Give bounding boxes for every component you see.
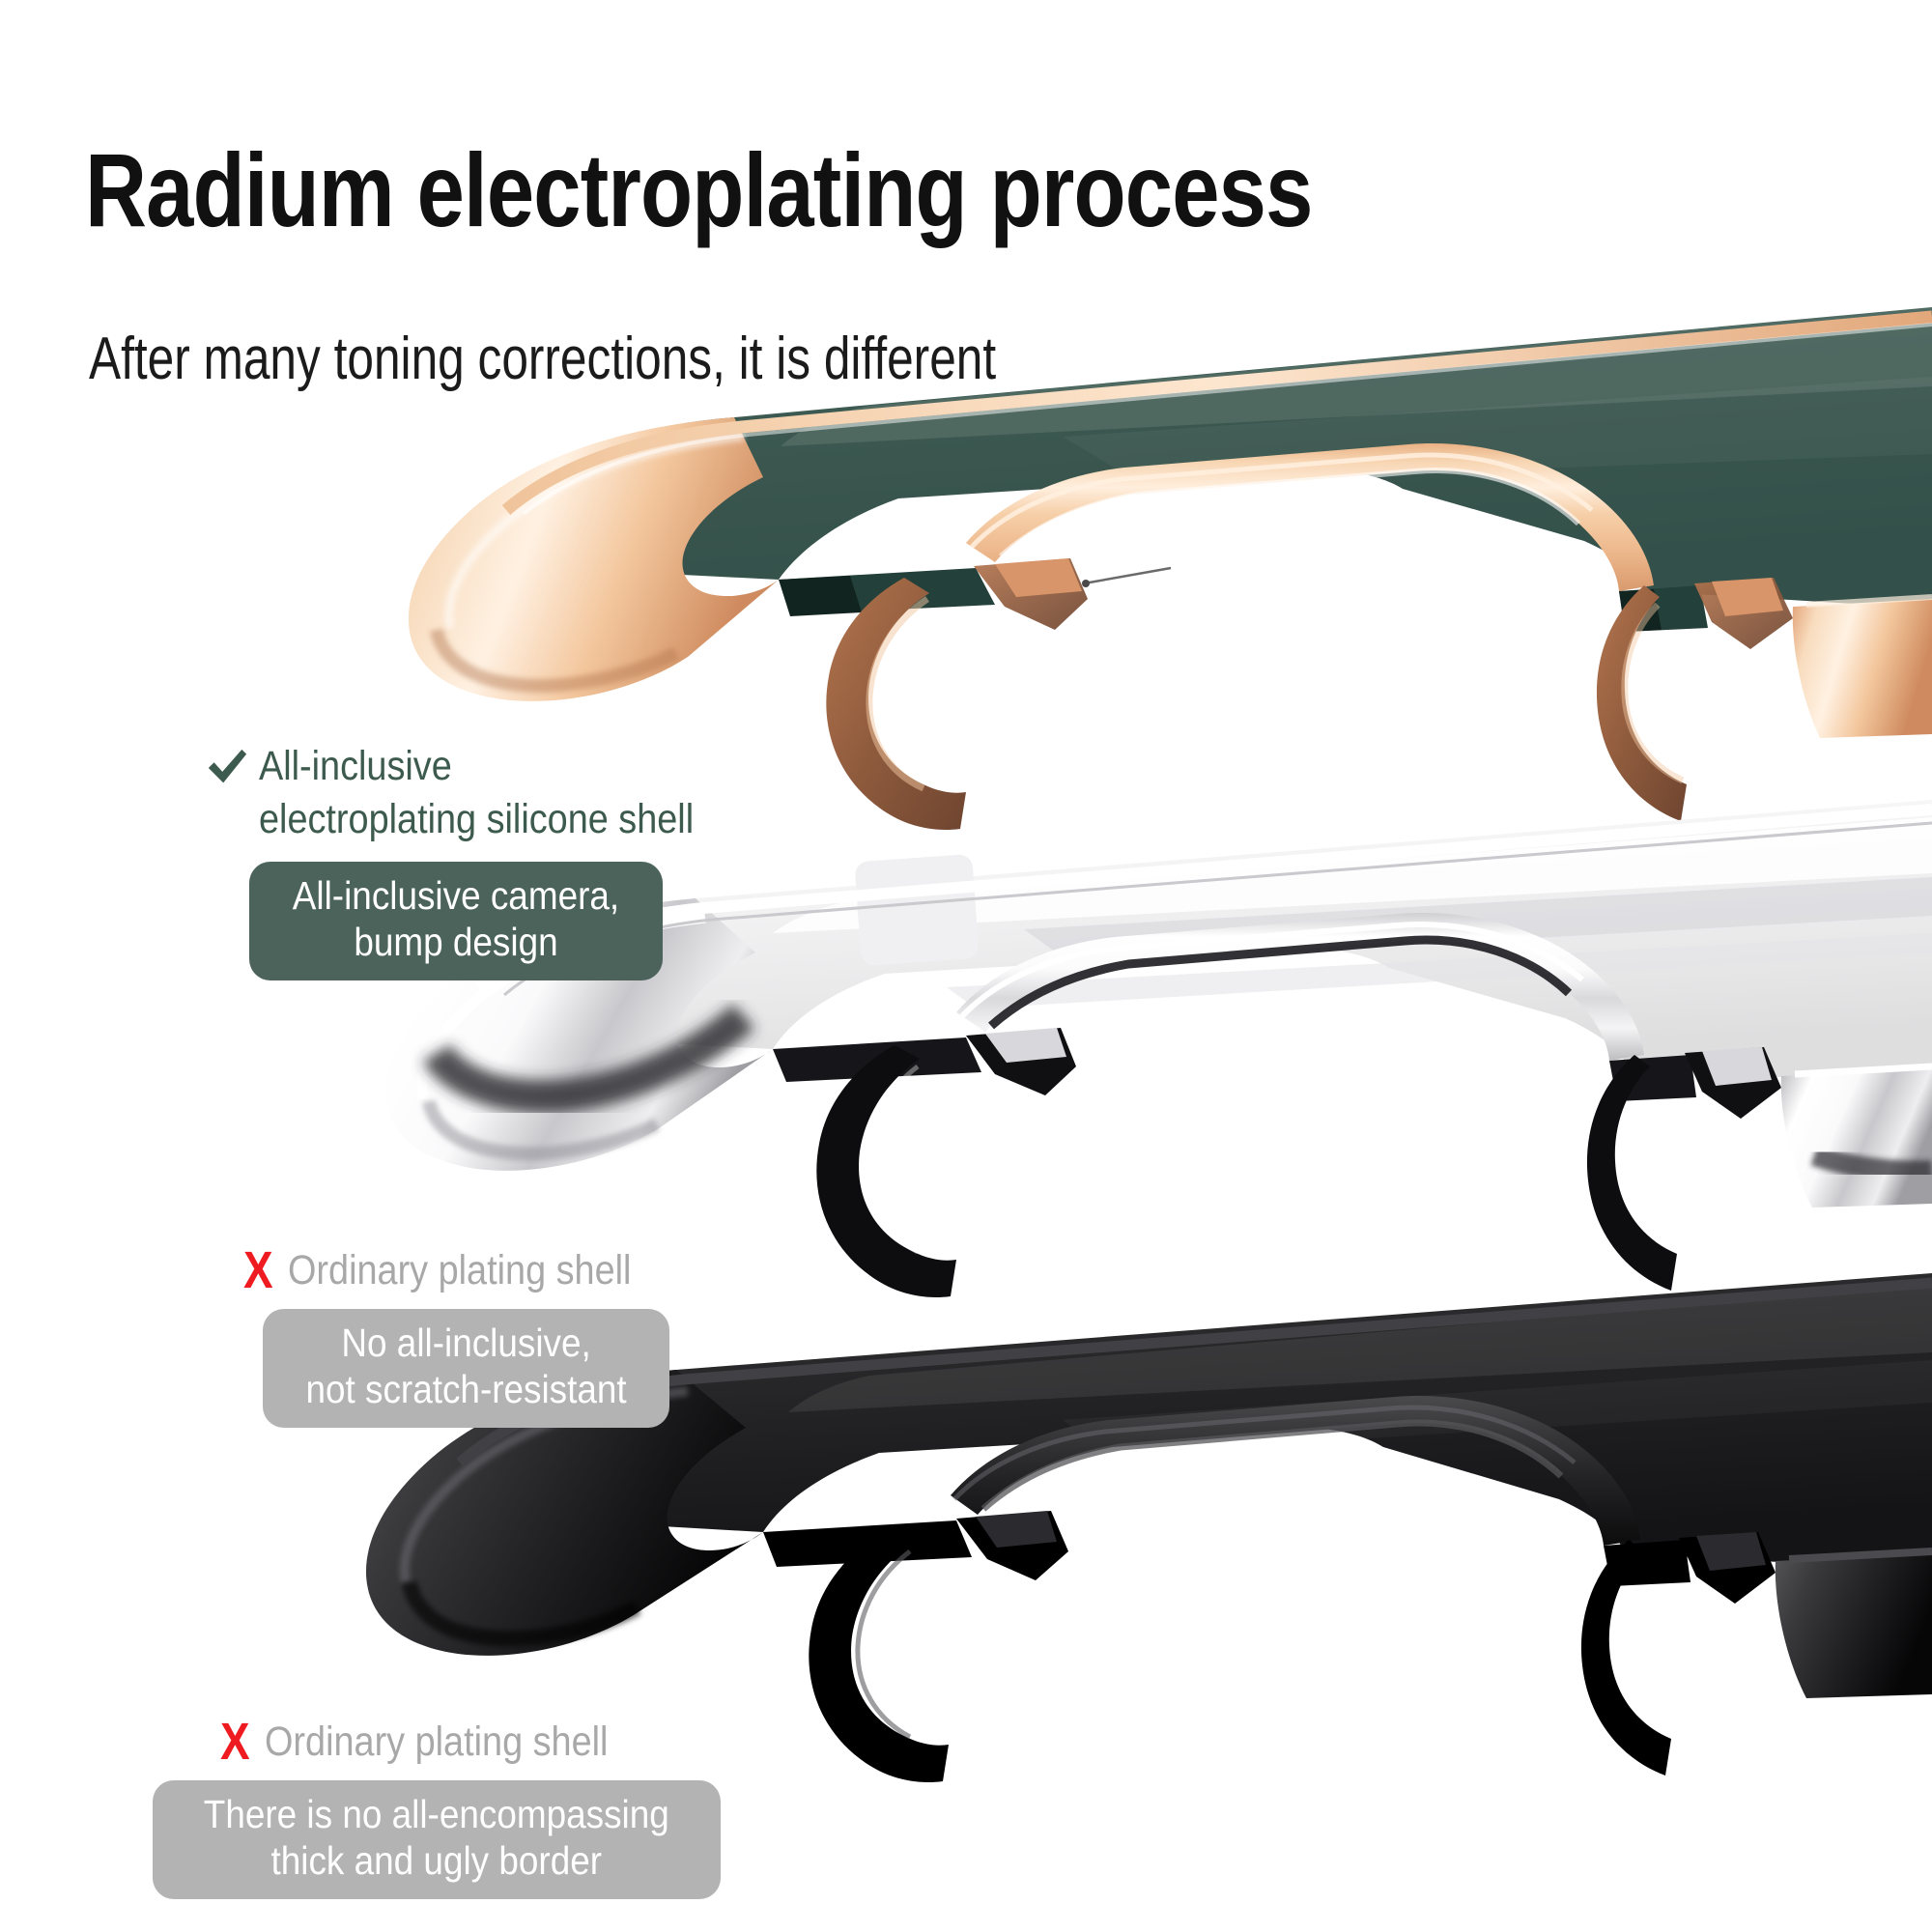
annotation-clear-case: X Ordinary plating shell No all-inclusiv… [243,1244,678,1428]
badge-line2: thick and ugly border [204,1838,669,1885]
x-icon: X [220,1716,250,1768]
badge-line1: There is no all-encompassing [204,1792,669,1838]
feature-badge: There is no all-encompassing thick and u… [153,1780,721,1899]
page-subtitle: After many toning corrections, it is dif… [89,327,996,392]
annotation-label-line1: Ordinary plating shell [288,1247,631,1293]
badge-wrapper: No all-inclusive, not scratch-resistant [263,1309,678,1428]
annotation-label: Ordinary plating shell [265,1716,608,1769]
check-icon [205,746,249,790]
feature-badge: All-inclusive camera, bump design [249,862,663,980]
annotation-label-line2: electroplating silicone shell [259,793,694,846]
annotation-label: All-inclusive electroplating silicone sh… [259,740,694,846]
annotation-green-case: All-inclusive electroplating silicone sh… [201,740,753,980]
feature-badge: No all-inclusive, not scratch-resistant [263,1309,669,1428]
annotation-heading: X Ordinary plating shell [220,1716,721,1769]
annotation-black-case: X Ordinary plating shell There is no all… [220,1716,721,1899]
badge-line2: bump design [293,920,619,966]
annotation-label-line1: Ordinary plating shell [265,1719,608,1765]
product-infographic: Radium electroplating process After many… [0,0,1932,1932]
annotation-heading: X Ordinary plating shell [243,1244,678,1297]
badge-line1: All-inclusive camera, [293,873,619,920]
x-icon: X [243,1244,273,1296]
badge-wrapper: There is no all-encompassing thick and u… [153,1780,721,1899]
badge-wrapper: All-inclusive camera, bump design [249,862,753,980]
annotation-label: Ordinary plating shell [288,1244,631,1297]
page-title: Radium electroplating process [85,135,1313,244]
badge-line1: No all-inclusive, [305,1321,626,1367]
annotation-heading: All-inclusive electroplating silicone sh… [205,740,753,846]
badge-line2: not scratch-resistant [305,1367,626,1413]
annotation-label-line1: All-inclusive [259,743,452,789]
